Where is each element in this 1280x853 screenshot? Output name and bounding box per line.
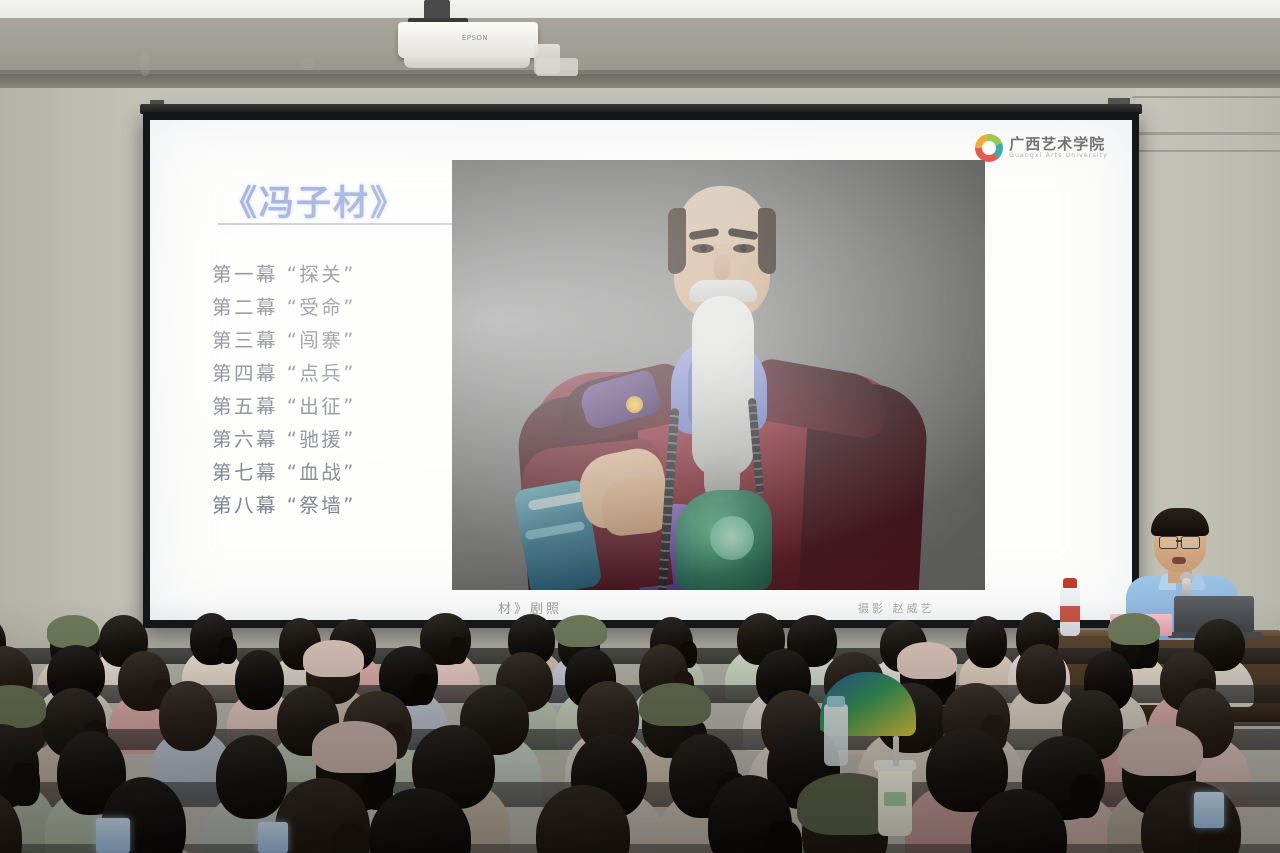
- audience-head: [966, 616, 1008, 668]
- audience-head: [235, 650, 284, 710]
- university-logo: 广西艺术学院 Guangxi Arts University: [975, 134, 1108, 162]
- audience-phone-screen: [258, 822, 288, 853]
- presenter-glasses-right-lens: [1181, 536, 1200, 549]
- photo-caption-right: 摄影 赵威艺: [858, 600, 935, 616]
- presenter-glasses-bridge: [1176, 540, 1181, 542]
- projector-brand-label: EPSON: [455, 34, 495, 43]
- audience-hair-bun: [332, 824, 369, 853]
- audience-cap: [1118, 724, 1203, 776]
- audience-hair-bun: [1070, 774, 1100, 818]
- lecture-hall-scene: EPSON 广西艺术学院 Guangxi Arts University 《冯子…: [0, 0, 1280, 853]
- university-name-en: Guangxi Arts University: [1009, 153, 1108, 159]
- photo-vignette: [452, 160, 985, 590]
- audience-cap: [1108, 613, 1160, 645]
- audience-phone-screen: [1194, 792, 1224, 828]
- audience-cap: [312, 721, 397, 773]
- presenter-hair: [1151, 508, 1209, 536]
- audience-hair-bun: [1139, 641, 1157, 668]
- audience-hair-bun: [765, 821, 802, 853]
- audience-head: [1016, 644, 1066, 704]
- presenter-glasses-left-lens: [1159, 536, 1178, 549]
- audience-hair-bun: [9, 763, 39, 807]
- university-logo-mark-icon: [975, 134, 1003, 162]
- audience-water-bottle-cap: [827, 696, 845, 707]
- wall-conduit-3: [1132, 96, 1280, 98]
- projector-lens-housing: [404, 55, 530, 68]
- audience-cap: [47, 615, 99, 647]
- audience-hair-bun: [219, 637, 237, 664]
- projected-slide: 广西艺术学院 Guangxi Arts University 《冯子材》 第一幕…: [150, 120, 1132, 620]
- audience-head: [216, 735, 287, 819]
- wall-mark-2: [300, 58, 314, 68]
- audience-cap: [303, 640, 363, 677]
- audience-water-bottle: [824, 704, 848, 766]
- audience-phone-screen: [96, 818, 130, 853]
- presenter-water-bottle-label: [1060, 606, 1080, 622]
- audience-head: [159, 681, 217, 751]
- projector-duct: [536, 58, 578, 76]
- university-logo-text: 广西艺术学院 Guangxi Arts University: [1009, 137, 1108, 159]
- audience-hair-bun: [1198, 827, 1235, 853]
- wall-conduit-2: [1130, 150, 1280, 152]
- audience-hair-bun: [449, 637, 467, 664]
- presenter-mouth: [1172, 557, 1186, 564]
- wall-left-panel: [0, 88, 140, 688]
- bubble-tea-label: [884, 792, 906, 806]
- desk-row: [0, 844, 1280, 853]
- slide-title-underline: [218, 223, 468, 225]
- audience-hair-bun: [412, 674, 434, 705]
- slide-photo: [452, 160, 985, 590]
- audience-cap: [639, 683, 711, 726]
- ceiling-soffit: [0, 18, 1280, 76]
- audience-cap: [555, 615, 607, 647]
- audience-cap: [897, 642, 957, 679]
- bubble-tea-straw: [893, 736, 899, 766]
- wall-conduit-1: [1130, 132, 1280, 135]
- presenter-water-bottle-cap: [1063, 578, 1077, 588]
- university-name-cn: 广西艺术学院: [1009, 137, 1108, 153]
- wall-mark-1: [140, 50, 150, 76]
